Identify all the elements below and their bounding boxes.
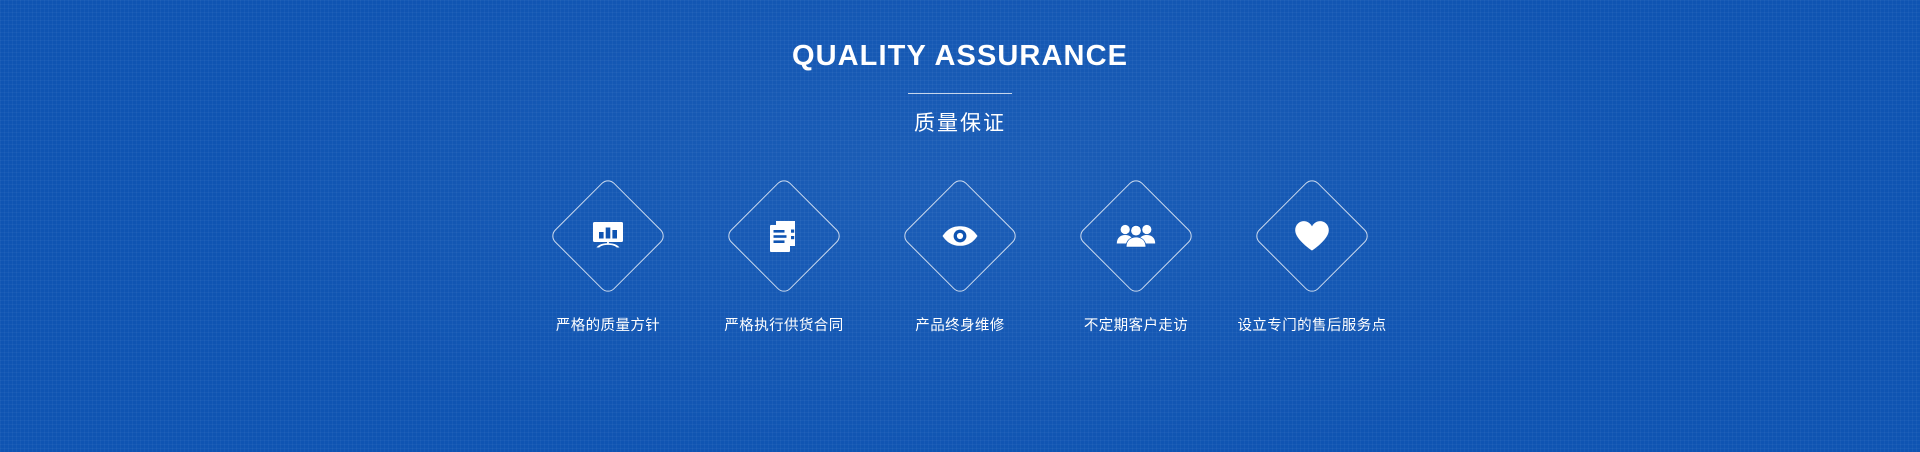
list-item-label: 不定期客户走访 — [1084, 319, 1188, 334]
presentation-chart-icon — [586, 214, 630, 258]
list-item[interactable]: 严格的质量方针 — [520, 176, 696, 334]
diamond-frame — [548, 176, 668, 296]
diamond-frame — [1076, 176, 1196, 296]
list-item[interactable]: 不定期客户走访 — [1048, 176, 1224, 334]
diamond-frame — [900, 176, 1020, 296]
title-divider — [908, 93, 1012, 94]
list-item[interactable]: 产品终身维修 — [872, 176, 1048, 334]
list-item-label: 严格执行供货合同 — [724, 319, 843, 334]
list-item[interactable]: 设立专门的售后服务点 — [1224, 176, 1400, 334]
feature-list: 严格的质量方针 — [520, 176, 1400, 334]
section-heading: QUALITY ASSURANCE 质量保证 — [792, 42, 1128, 134]
list-item-label: 严格的质量方针 — [556, 319, 660, 334]
page-subtitle: 质量保证 — [914, 113, 1006, 134]
list-item-label: 产品终身维修 — [915, 319, 1004, 334]
diamond-frame — [1252, 176, 1372, 296]
list-item-label: 设立专门的售后服务点 — [1238, 319, 1387, 334]
page-title: QUALITY ASSURANCE — [792, 42, 1128, 71]
eye-icon — [938, 214, 982, 258]
diamond-frame — [724, 176, 844, 296]
heart-icon — [1290, 214, 1334, 258]
contract-document-icon — [762, 214, 806, 258]
quality-assurance-section: QUALITY ASSURANCE 质量保证 — [0, 0, 1920, 452]
people-group-icon — [1114, 214, 1158, 258]
list-item[interactable]: 严格执行供货合同 — [696, 176, 872, 334]
